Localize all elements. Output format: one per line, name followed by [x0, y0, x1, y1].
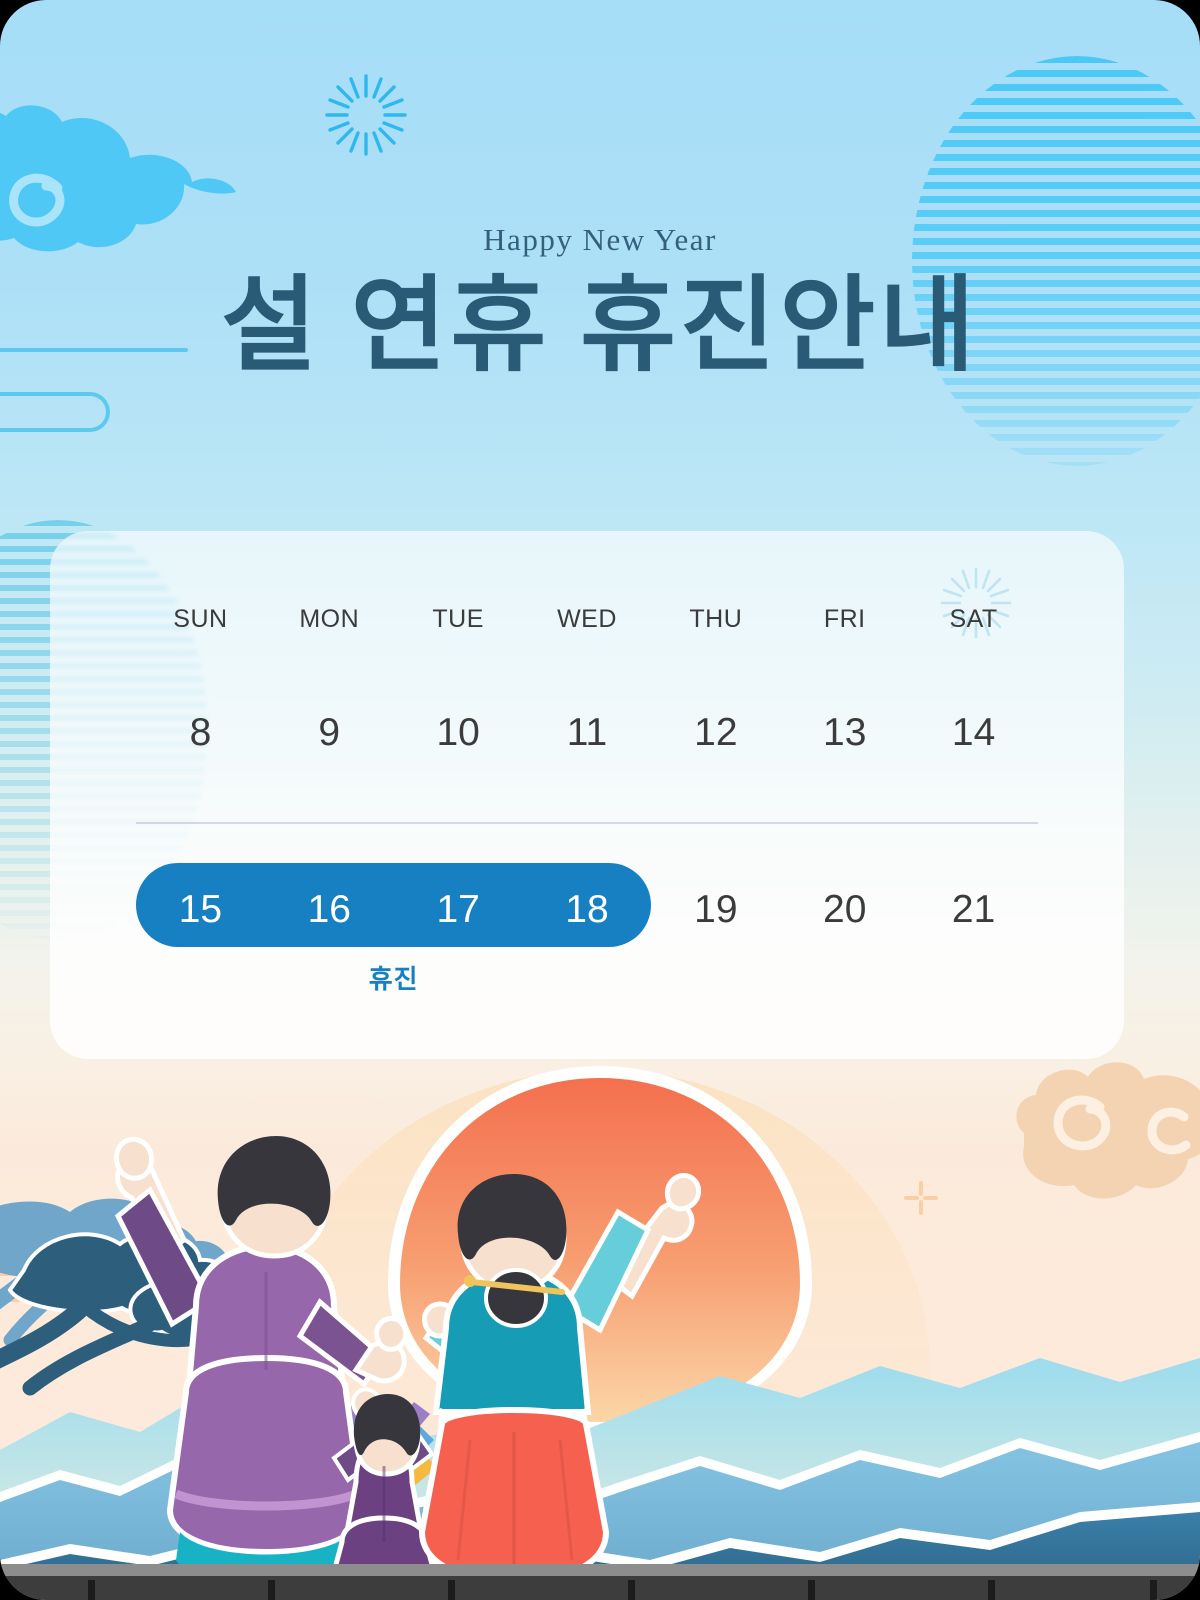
day-cell[interactable]: 11 — [523, 697, 652, 769]
poster-header: Happy New Year 설 연휴 휴진안내 — [0, 222, 1200, 389]
weekday-thu: THU — [651, 605, 780, 634]
new-year-holiday-poster: Happy New Year 설 연휴 휴진안내 — [0, 0, 1200, 1600]
day-cell[interactable]: 8 — [136, 697, 265, 769]
day-cell[interactable]: 17 — [394, 874, 523, 946]
weekday-sun: SUN — [136, 605, 265, 634]
starburst-icon — [325, 74, 407, 161]
day-cell[interactable]: 21 — [909, 874, 1038, 946]
day-cell[interactable]: 10 — [394, 697, 523, 769]
day-cell[interactable]: 12 — [651, 697, 780, 769]
day-cell[interactable]: 9 — [265, 697, 394, 769]
day-cell[interactable]: 14 — [909, 697, 1038, 769]
day-cell[interactable]: 15 — [136, 874, 265, 946]
page-title: 설 연휴 휴진안내 — [0, 266, 1200, 389]
calendar-week-row-2: 15 16 17 18 19 20 21 — [136, 871, 1038, 949]
family-sunrise-illustration — [0, 1040, 1200, 1600]
day-cell[interactable]: 18 — [523, 874, 652, 946]
weekday-header-row: SUN MON TUE WED THU FRI SAT — [136, 605, 1038, 634]
calendar-week-row-1: 8 9 10 11 12 13 14 — [136, 697, 1038, 769]
weekday-tue: TUE — [394, 605, 523, 634]
tile-railing — [0, 1564, 1200, 1600]
weekday-wed: WED — [523, 605, 652, 634]
holiday-closed-label: 휴진 — [136, 959, 651, 996]
eyebrow-text: Happy New Year — [0, 222, 1200, 258]
weekday-fri: FRI — [780, 605, 909, 634]
day-cell[interactable]: 13 — [780, 697, 909, 769]
week-divider — [136, 822, 1038, 824]
day-cell[interactable]: 19 — [651, 874, 780, 946]
day-cell[interactable]: 20 — [780, 874, 909, 946]
day-cell[interactable]: 16 — [265, 874, 394, 946]
calendar-card: SUN MON TUE WED THU FRI SAT 8 9 10 11 12… — [50, 531, 1124, 1059]
weekday-mon: MON — [265, 605, 394, 634]
weekday-sat: SAT — [909, 605, 1038, 634]
